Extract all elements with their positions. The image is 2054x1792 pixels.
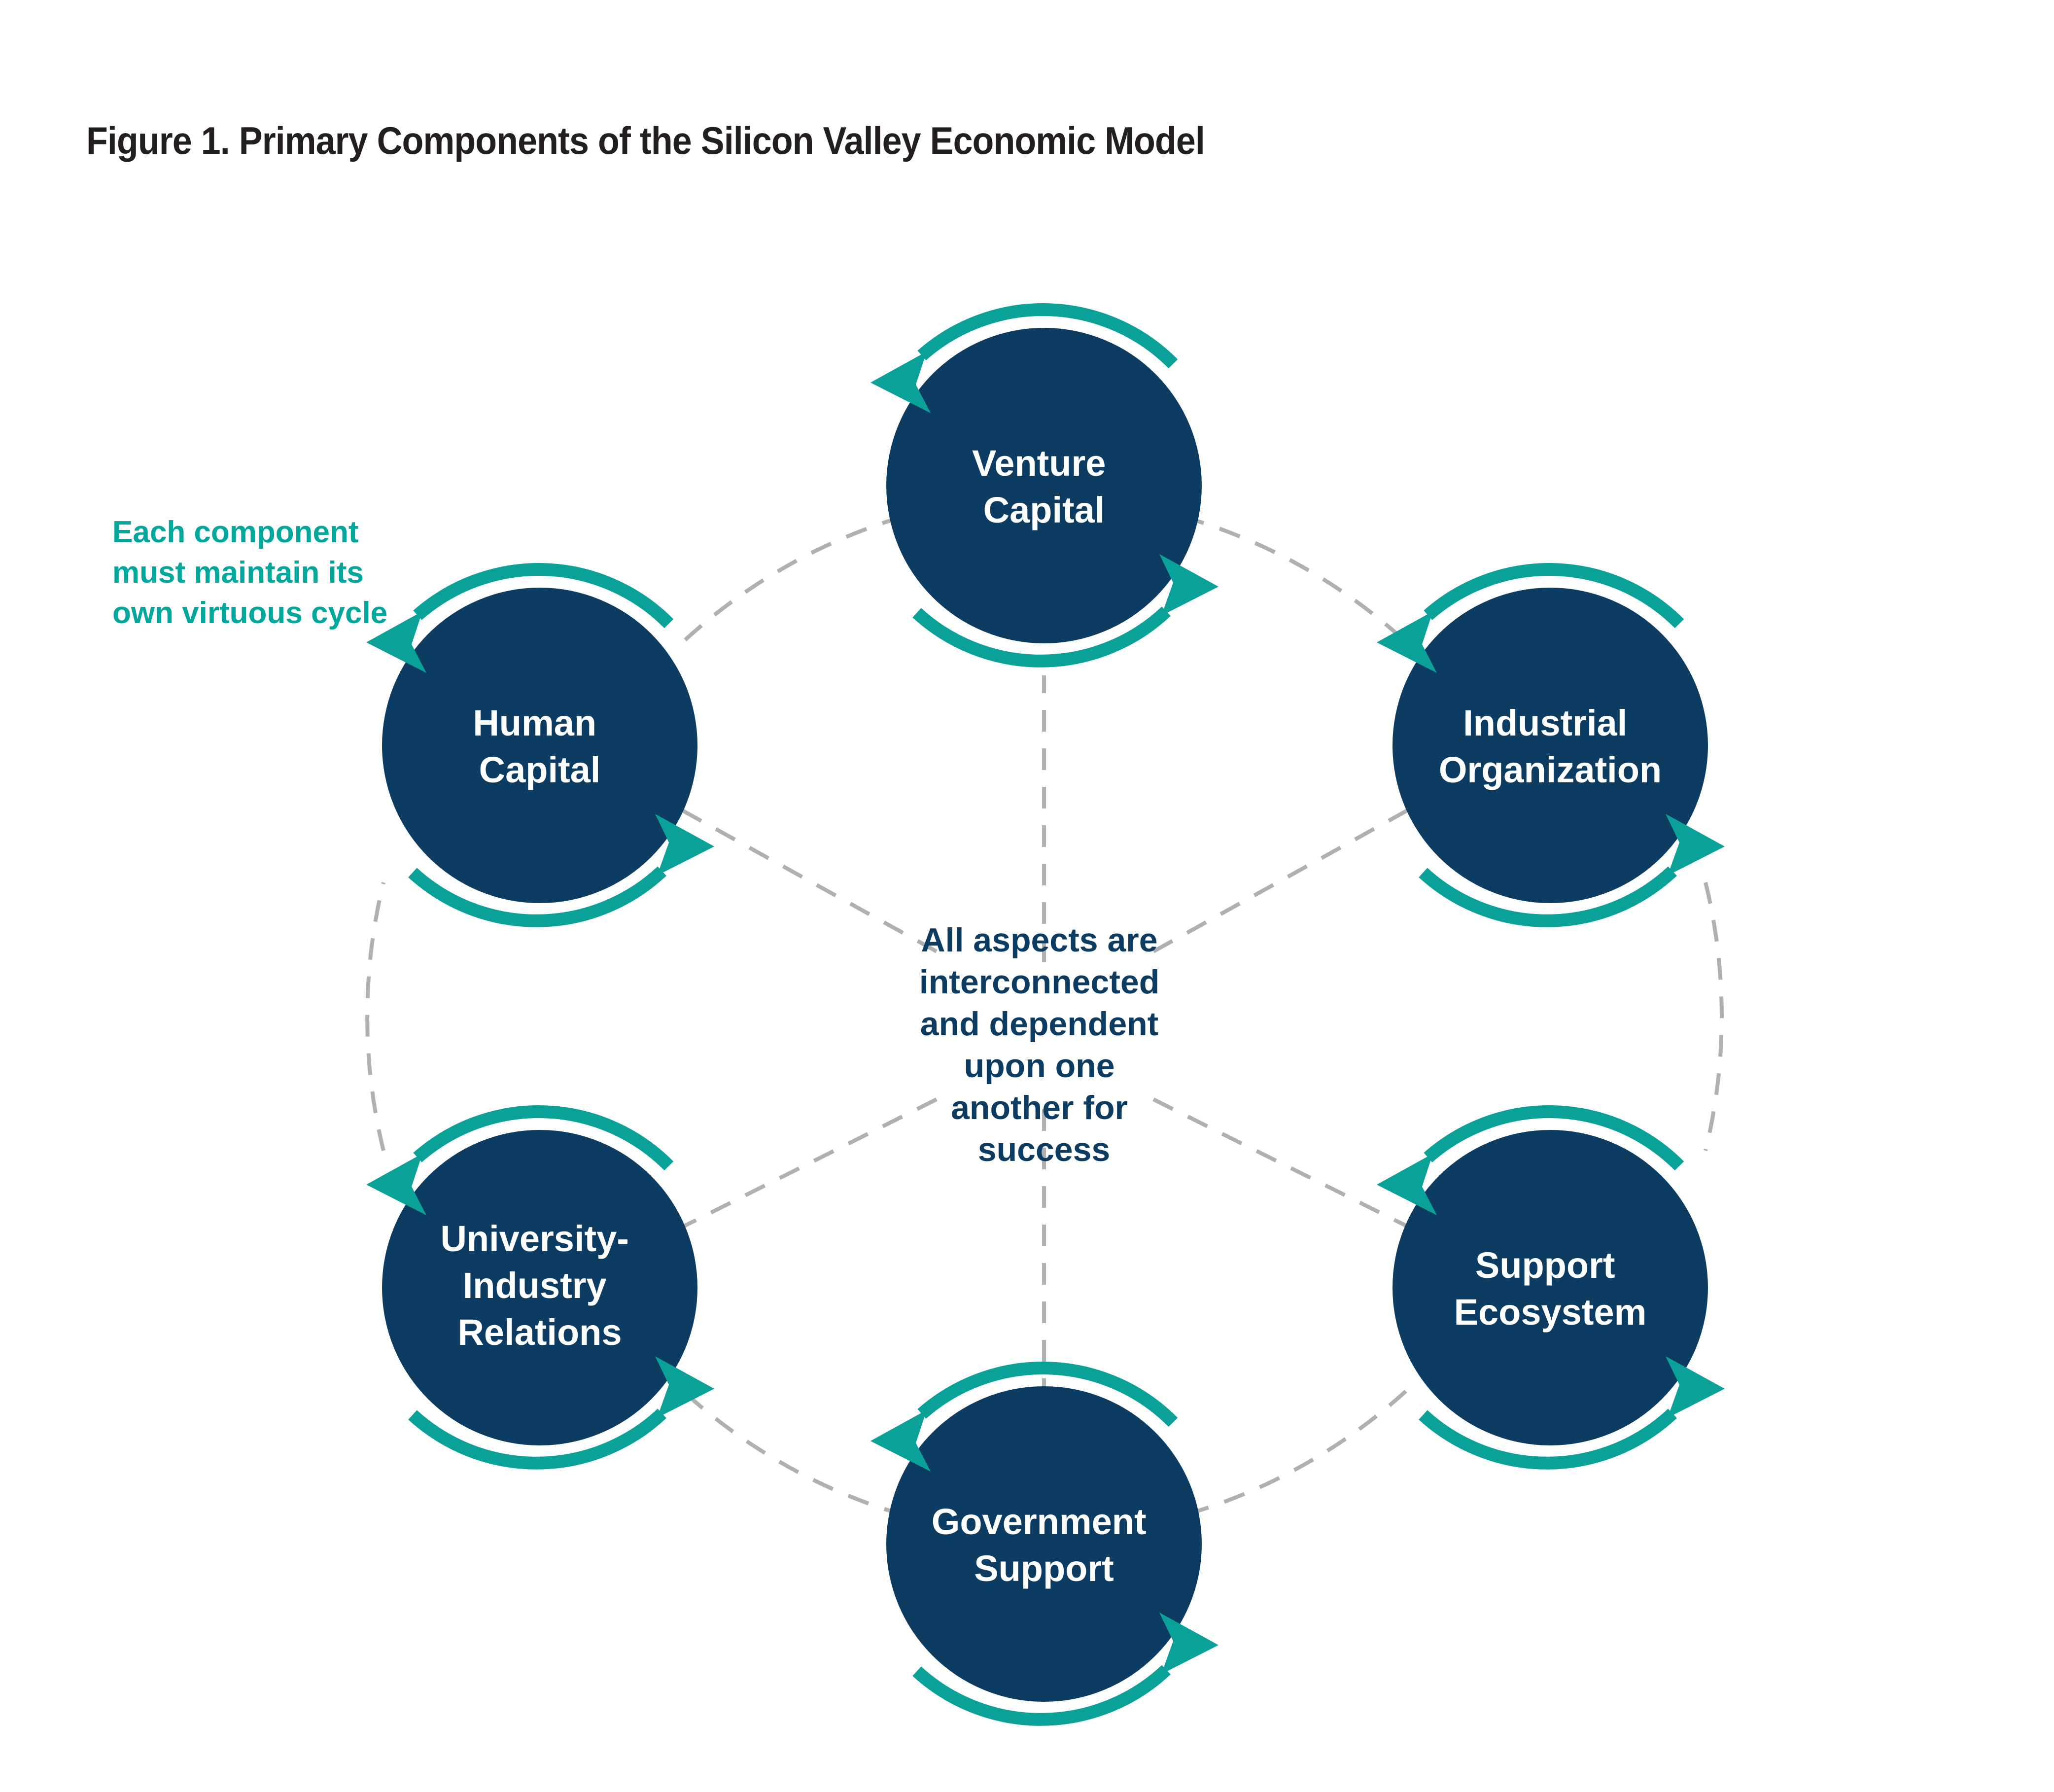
cycle-arrow-ccw-support-ecosystem	[1377, 1154, 1437, 1215]
spoke-to-support-ecosystem	[1153, 1099, 1420, 1232]
annotation-line: upon one	[964, 1047, 1115, 1085]
node-university-industry-relations[interactable]: University- Industry Relations	[366, 1112, 714, 1463]
node-circle-government-support[interactable]	[886, 1386, 1202, 1702]
node-label-line: Support	[1475, 1245, 1615, 1286]
node-label-line: Industry	[463, 1265, 607, 1306]
node-label-line: Relations	[457, 1312, 622, 1353]
node-label-line: Organization	[1439, 749, 1662, 790]
annotation-line: own virtuous cycle	[112, 596, 387, 630]
dash-edge-gs-uir	[683, 1391, 905, 1515]
cycle-arrow-ccw-venture-capital	[870, 351, 931, 413]
annotation-line: success	[978, 1131, 1110, 1168]
node-venture-capital[interactable]: Venture Capital	[870, 310, 1218, 661]
dash-edge-hc-vc	[685, 516, 906, 640]
cycle-arrow-cw-human-capital	[655, 814, 714, 876]
spoke-to-university-industry	[675, 1099, 937, 1230]
node-circle-human-capital[interactable]	[382, 588, 697, 903]
cycle-arrow-cw-university-industry-relations	[655, 1356, 714, 1418]
dash-edge-se-gs	[1183, 1391, 1406, 1515]
annotation-line: interconnected	[919, 963, 1159, 1001]
dash-edge-vc-io	[1183, 517, 1405, 641]
cycle-arrow-ccw-government-support	[870, 1410, 931, 1472]
dash-edge-uir-hc	[367, 882, 383, 1151]
cycle-arrow-ccw-university-industry-relations	[366, 1154, 426, 1215]
node-circle-support-ecosystem[interactable]	[1393, 1130, 1708, 1445]
cycle-arrow-cw-venture-capital	[1159, 554, 1218, 616]
annotation-line: must maintain its	[112, 556, 364, 590]
annotation-line: and dependent	[920, 1005, 1159, 1043]
node-label-line: Ecosystem	[1454, 1292, 1647, 1333]
cycle-arrow-cw-support-ecosystem	[1666, 1356, 1725, 1418]
node-label-line: Capital	[983, 490, 1105, 530]
node-label-line: Support	[974, 1548, 1114, 1589]
cycle-arrow-ccw-industrial-organization	[1377, 611, 1437, 673]
figure-canvas: Figure 1. Primary Components of the Sili…	[0, 0, 2054, 1792]
silicon-valley-model-diagram: Venture Capital Industrial Organization	[0, 0, 2054, 1792]
spoke-to-human-capital	[675, 807, 937, 951]
node-label-line: Human	[473, 703, 596, 743]
annotation-line: another for	[951, 1089, 1128, 1126]
cycle-arrow-cw-industrial-organization	[1666, 814, 1725, 876]
annotation-line: All aspects are	[921, 921, 1158, 959]
spoke-to-industrial-organization	[1153, 804, 1420, 951]
node-circle-venture-capital[interactable]	[886, 328, 1202, 643]
node-label-line: Capital	[479, 749, 601, 790]
node-label-line: Industrial	[1463, 703, 1627, 743]
node-label-line: Venture	[972, 443, 1106, 484]
node-support-ecosystem[interactable]: Support Ecosystem	[1377, 1112, 1725, 1463]
node-label-university-industry-relations: University- Industry Relations	[440, 1218, 639, 1353]
node-industrial-organization[interactable]: Industrial Organization	[1377, 569, 1725, 921]
annotation-line: Each component	[112, 515, 359, 549]
node-human-capital[interactable]: Human Capital	[366, 569, 714, 921]
node-circle-industrial-organization[interactable]	[1393, 588, 1708, 903]
annotation-virtuous-cycle: Each component must maintain its own vir…	[112, 515, 387, 630]
node-label-line: Government	[932, 1501, 1147, 1542]
cycle-arrow-cw-government-support	[1159, 1613, 1218, 1674]
dash-edge-io-se	[1706, 882, 1722, 1151]
annotation-interconnected: All aspects are interconnected and depen…	[919, 921, 1169, 1168]
node-label-line: University-	[440, 1218, 628, 1259]
node-government-support[interactable]: Government Support	[870, 1368, 1218, 1720]
